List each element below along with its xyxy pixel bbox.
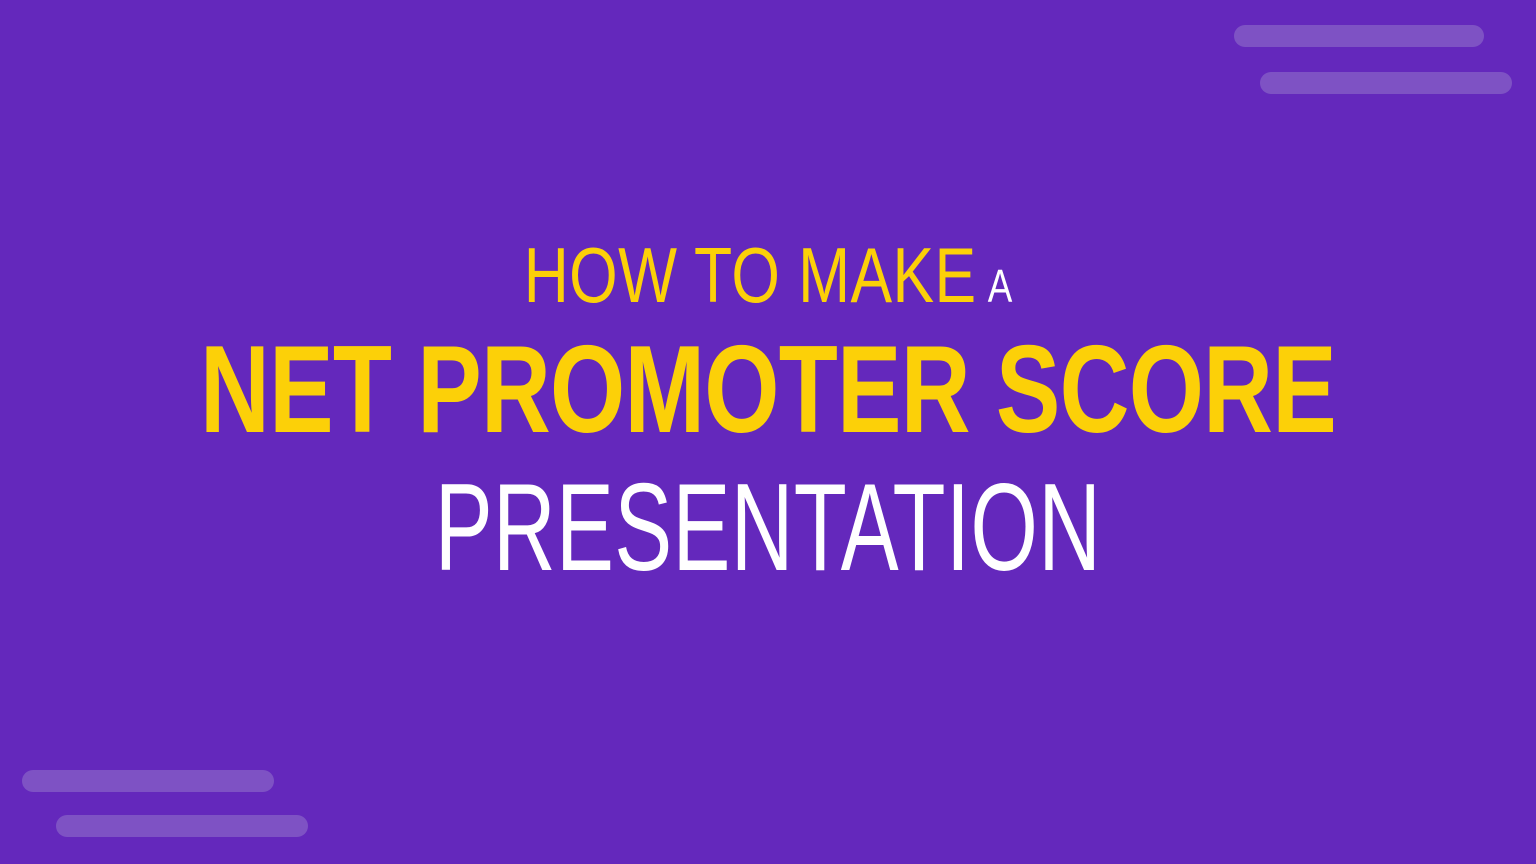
title-headline: NET PROMOTER SCORE	[169, 328, 1367, 452]
title-subject: PRESENTATION	[230, 466, 1305, 590]
title-slide: HOW TO MAKEA NET PROMOTER SCORE PRESENTA…	[0, 0, 1536, 864]
title-line-eyebrow: HOW TO MAKEA	[154, 236, 1383, 314]
decor-bar-bottom-left-2	[56, 815, 308, 837]
title-eyebrow-article: A	[977, 260, 1013, 312]
decor-bar-top-right-1	[1234, 25, 1484, 47]
decor-bar-top-right-2	[1260, 72, 1512, 94]
title-eyebrow-text: HOW TO MAKE	[524, 231, 977, 319]
decor-bar-bottom-left-1	[22, 770, 274, 792]
title-block: HOW TO MAKEA NET PROMOTER SCORE PRESENTA…	[0, 236, 1536, 590]
